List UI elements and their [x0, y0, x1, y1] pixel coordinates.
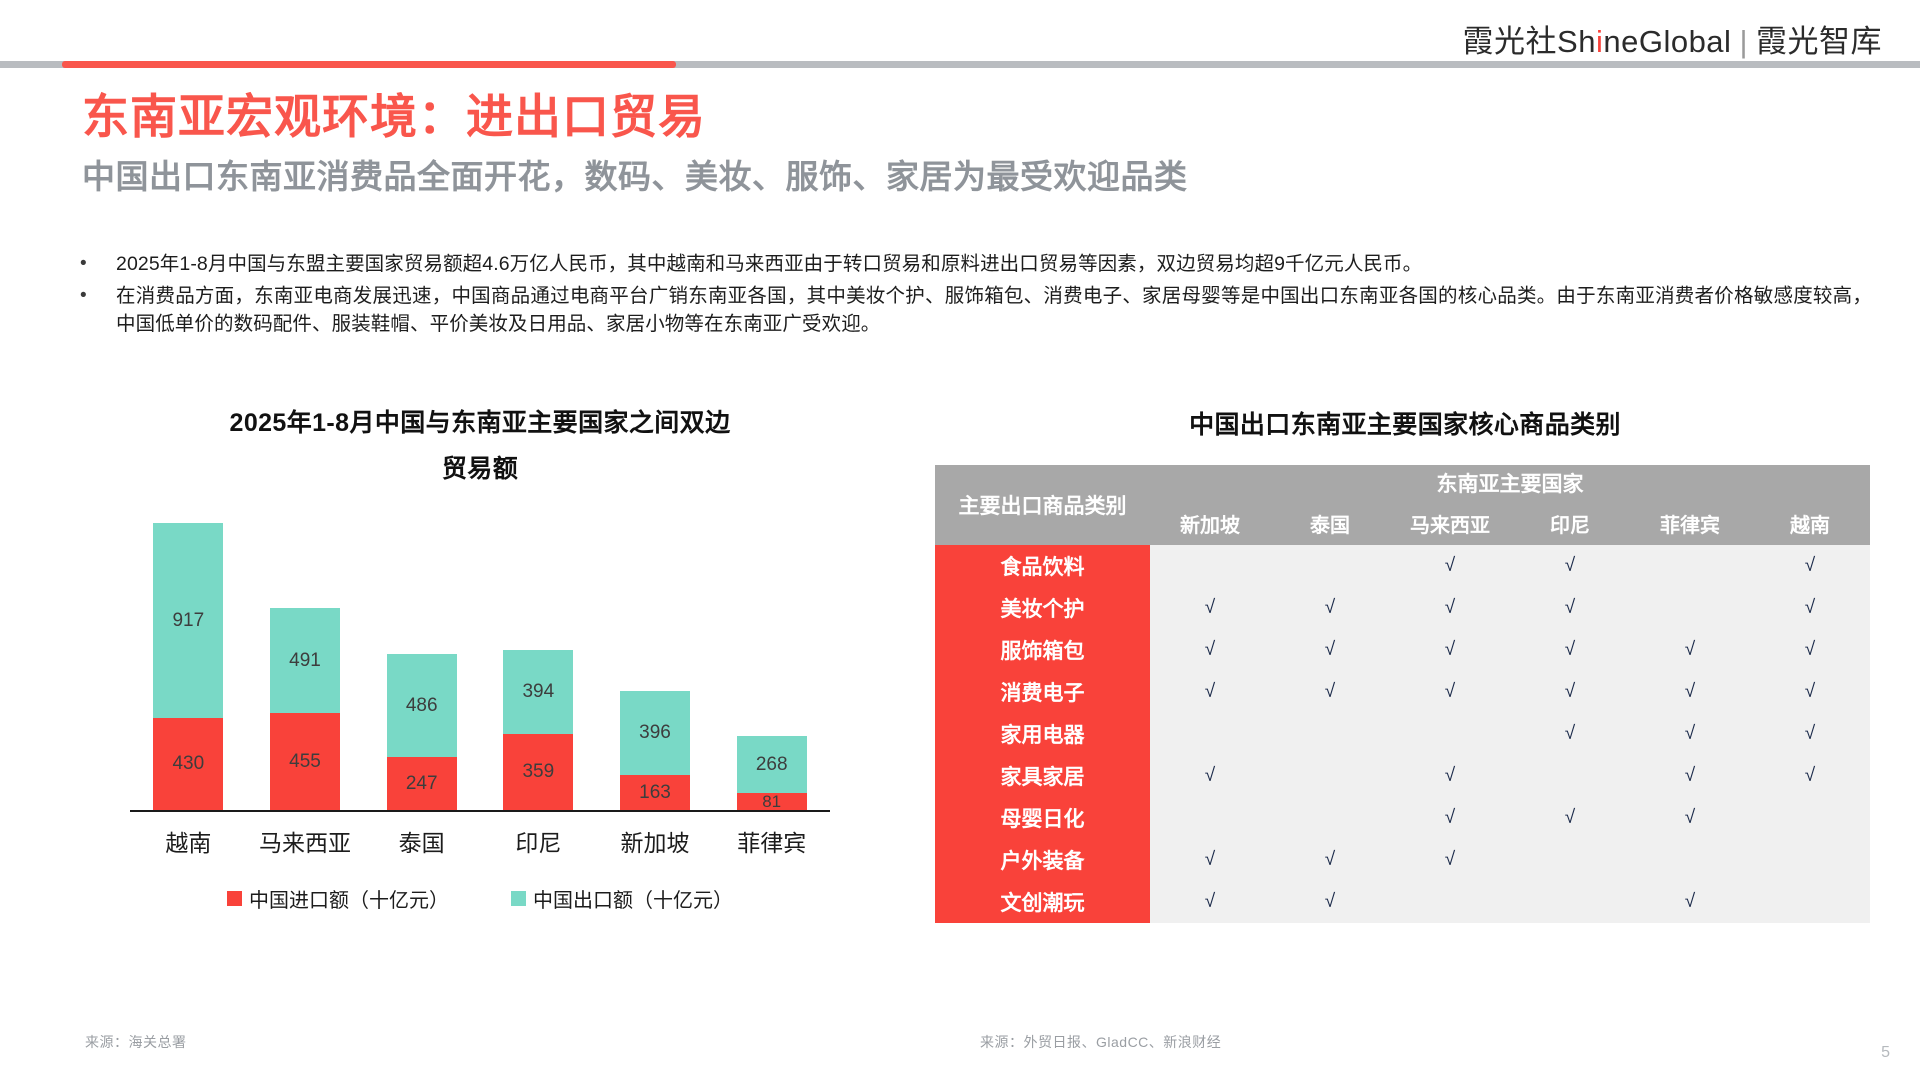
brand-separator: |: [1731, 24, 1756, 59]
brand-logo: 霞光社ShineGlobal|霞光智库: [1463, 16, 1882, 61]
table-row-label: 美妆个护: [935, 587, 1150, 629]
table-row-label: 文创潮玩: [935, 881, 1150, 923]
chart-x-tick-label: 泰国: [363, 824, 480, 858]
table-head: 主要出口商品类别 东南亚主要国家 新加坡泰国马来西亚印尼菲律宾越南: [935, 465, 1870, 545]
chart-legend: 中国进口额（十亿元）中国出口额（十亿元）: [130, 884, 830, 913]
brand-en-before-i: Sh: [1557, 24, 1596, 59]
table-cell-check: √: [1390, 839, 1510, 881]
table-cell-check: √: [1510, 713, 1630, 755]
table-cell-check: √: [1750, 671, 1870, 713]
chart-segment-export: 486: [387, 654, 457, 757]
table-cell-check: √: [1390, 545, 1510, 587]
chart-bar-slot: 917430: [130, 512, 247, 810]
table-row-label: 家用电器: [935, 713, 1150, 755]
table-cell-check: √: [1390, 755, 1510, 797]
table-cell-check: √: [1750, 713, 1870, 755]
legend-swatch-icon: [511, 891, 526, 906]
chart-plot-area: 91743049145548624739435939616326881 越南马来…: [130, 512, 830, 812]
table-cell-empty: [1510, 881, 1630, 923]
table-cell-check: √: [1630, 755, 1750, 797]
slide-root: 霞光社ShineGlobal|霞光智库 东南亚宏观环境：进出口贸易 中国出口东南…: [0, 0, 1920, 1080]
table-cell-empty: [1750, 797, 1870, 839]
header-rule-red: [62, 61, 676, 68]
legend-swatch-icon: [227, 891, 242, 906]
page-subtitle: 中国出口东南亚消费品全面开花，数码、美妆、服饰、家居为最受欢迎品类: [82, 150, 1188, 198]
chart-segment-import: 430: [153, 718, 223, 810]
table-cell-check: √: [1150, 755, 1270, 797]
chart-legend-item[interactable]: 中国出口额（十亿元）: [511, 884, 733, 913]
chart-legend-item[interactable]: 中国进口额（十亿元）: [227, 884, 449, 913]
chart-stacked-bar: 394359: [503, 650, 573, 810]
table-cell-check: √: [1390, 671, 1510, 713]
header-rule: [0, 61, 1920, 68]
table-cell-check: √: [1630, 713, 1750, 755]
table-cell-check: √: [1270, 671, 1390, 713]
table-row-label: 家具家居: [935, 755, 1150, 797]
table-row-label: 食品饮料: [935, 545, 1150, 587]
table-cell-check: √: [1510, 587, 1630, 629]
chart-segment-export: 396: [620, 691, 690, 775]
chart-segment-export: 268: [737, 736, 807, 793]
table-cell-check: √: [1270, 629, 1390, 671]
table-title: 中国出口东南亚主要国家核心商品类别: [935, 405, 1875, 441]
chart-segment-export: 394: [503, 650, 573, 734]
table-cell-check: √: [1510, 629, 1630, 671]
table-cell-empty: [1270, 713, 1390, 755]
table-row: 消费电子√√√√√√: [935, 671, 1870, 713]
table-cell-check: √: [1150, 587, 1270, 629]
table-cell-check: √: [1750, 545, 1870, 587]
table-row: 美妆个护√√√√√: [935, 587, 1870, 629]
table-row-label: 消费电子: [935, 671, 1150, 713]
chart-segment-import: 163: [620, 775, 690, 810]
table-row: 食品饮料√√√: [935, 545, 1870, 587]
table-cell-check: √: [1510, 797, 1630, 839]
chart-source: 来源：海关总署: [85, 1032, 187, 1052]
table-cell-check: √: [1150, 629, 1270, 671]
table-cell-empty: [1630, 545, 1750, 587]
table-cell-check: √: [1390, 797, 1510, 839]
table-row: 户外装备√√√: [935, 839, 1870, 881]
table-cell-check: √: [1150, 839, 1270, 881]
table-cell-check: √: [1390, 629, 1510, 671]
table-cell-check: √: [1630, 881, 1750, 923]
table-cell-empty: [1750, 881, 1870, 923]
table-cell-empty: [1150, 797, 1270, 839]
chart-title-line2: 贸易额: [130, 446, 830, 492]
bullet-text: 在消费品方面，东南亚电商发展迅速，中国商品通过电商平台广销东南亚各国，其中美妆个…: [116, 282, 1872, 338]
table-cell-empty: [1270, 545, 1390, 587]
table-row-label: 服饰箱包: [935, 629, 1150, 671]
table-country-header: 菲律宾: [1630, 501, 1750, 545]
chart-segment-export: 491: [270, 608, 340, 713]
table-cell-check: √: [1750, 755, 1870, 797]
table-cell-check: √: [1630, 797, 1750, 839]
table-row: 家具家居√√√√: [935, 755, 1870, 797]
table-country-header: 印尼: [1510, 501, 1630, 545]
table-row: 服饰箱包√√√√√√: [935, 629, 1870, 671]
table-cell-empty: [1270, 797, 1390, 839]
table-cell-check: √: [1630, 629, 1750, 671]
category-table-block: 中国出口东南亚主要国家核心商品类别 主要出口商品类别 东南亚主要国家 新加坡泰国…: [935, 405, 1875, 923]
chart-title-line1: 2025年1-8月中国与东南亚主要国家之间双边: [130, 400, 830, 446]
chart-bar-slot: 396163: [597, 512, 714, 810]
table-country-header: 新加坡: [1150, 501, 1270, 545]
bullet-list: • 2025年1-8月中国与东盟主要国家贸易额超4.6万亿人民币，其中越南和马来…: [72, 250, 1872, 342]
table-cell-check: √: [1510, 545, 1630, 587]
chart-stacked-bar: 26881: [737, 736, 807, 810]
trade-volume-chart: 2025年1-8月中国与东南亚主要国家之间双边 贸易额 917430491455…: [60, 400, 900, 812]
table-cell-empty: [1750, 839, 1870, 881]
table-group-header: 东南亚主要国家: [1150, 465, 1870, 501]
chart-title: 2025年1-8月中国与东南亚主要国家之间双边 贸易额: [130, 400, 830, 492]
chart-bar-slot: 394359: [480, 512, 597, 810]
table-cell-check: √: [1270, 839, 1390, 881]
table-cell-empty: [1270, 755, 1390, 797]
table-country-header: 越南: [1750, 501, 1870, 545]
table-cell-check: √: [1270, 881, 1390, 923]
table-row: 家用电器√√√: [935, 713, 1870, 755]
chart-legend-label: 中国进口额（十亿元）: [249, 884, 449, 913]
table-country-header: 马来西亚: [1390, 501, 1510, 545]
page-title: 东南亚宏观环境：进出口贸易: [82, 78, 706, 147]
table-row-label: 母婴日化: [935, 797, 1150, 839]
table-head-row-group: 主要出口商品类别 东南亚主要国家: [935, 465, 1870, 501]
table-cell-empty: [1390, 881, 1510, 923]
bullet-marker: •: [72, 250, 116, 277]
table-cell-empty: [1510, 839, 1630, 881]
table-cell-check: √: [1390, 587, 1510, 629]
chart-x-tick-labels: 越南马来西亚泰国印尼新加坡菲律宾: [130, 824, 830, 858]
table-body: 食品饮料√√√美妆个护√√√√√服饰箱包√√√√√√消费电子√√√√√√家用电器…: [935, 545, 1870, 923]
table-cell-empty: [1390, 713, 1510, 755]
chart-x-tick-label: 马来西亚: [247, 824, 364, 858]
table-cell-check: √: [1150, 671, 1270, 713]
table-cell-check: √: [1750, 587, 1870, 629]
table-cell-check: √: [1750, 629, 1870, 671]
chart-x-tick-label: 菲律宾: [713, 824, 830, 858]
chart-segment-import: 247: [387, 757, 457, 810]
chart-x-axis: [130, 810, 830, 812]
table-cell-empty: [1630, 839, 1750, 881]
table-source: 来源：外贸日报、GladCC、新浪财经: [980, 1032, 1221, 1052]
table-row-label: 户外装备: [935, 839, 1150, 881]
chart-bars: 91743049145548624739435939616326881: [130, 512, 830, 810]
chart-bar-slot: 486247: [363, 512, 480, 810]
chart-stacked-bar: 486247: [387, 654, 457, 810]
table-cell-empty: [1150, 713, 1270, 755]
table-cell-check: √: [1270, 587, 1390, 629]
chart-segment-import: 455: [270, 713, 340, 810]
table-corner-header: 主要出口商品类别: [935, 465, 1150, 545]
table-cell-empty: [1630, 587, 1750, 629]
brand-en-after-i: neGlobal: [1603, 24, 1731, 59]
table-cell-check: √: [1150, 881, 1270, 923]
table-row: 文创潮玩√√√: [935, 881, 1870, 923]
category-table: 主要出口商品类别 东南亚主要国家 新加坡泰国马来西亚印尼菲律宾越南 食品饮料√√…: [935, 465, 1870, 923]
chart-x-tick-label: 印尼: [480, 824, 597, 858]
bullet-text: 2025年1-8月中国与东盟主要国家贸易额超4.6万亿人民币，其中越南和马来西亚…: [116, 250, 1872, 278]
chart-x-tick-label: 越南: [130, 824, 247, 858]
table-cell-check: √: [1510, 671, 1630, 713]
page-number: 5: [1881, 1044, 1890, 1062]
bullet-item: • 在消费品方面，东南亚电商发展迅速，中国商品通过电商平台广销东南亚各国，其中美…: [72, 282, 1872, 338]
chart-stacked-bar: 396163: [620, 691, 690, 810]
table-cell-empty: [1150, 545, 1270, 587]
brand-cn-left: 霞光社: [1463, 24, 1558, 59]
chart-bar-slot: 491455: [247, 512, 364, 810]
chart-segment-export: 917: [153, 523, 223, 718]
brand-cn-right: 霞光智库: [1756, 24, 1882, 59]
table-row: 母婴日化√√√: [935, 797, 1870, 839]
chart-legend-label: 中国出口额（十亿元）: [533, 884, 733, 913]
bullet-item: • 2025年1-8月中国与东盟主要国家贸易额超4.6万亿人民币，其中越南和马来…: [72, 250, 1872, 278]
table-country-header: 泰国: [1270, 501, 1390, 545]
table-cell-check: √: [1630, 671, 1750, 713]
chart-segment-import: 81: [737, 793, 807, 810]
bullet-marker: •: [72, 282, 116, 309]
chart-stacked-bar: 491455: [270, 608, 340, 810]
chart-x-tick-label: 新加坡: [597, 824, 714, 858]
table-cell-empty: [1510, 755, 1630, 797]
chart-segment-import: 359: [503, 734, 573, 810]
chart-stacked-bar: 917430: [153, 523, 223, 810]
chart-bar-slot: 26881: [713, 512, 830, 810]
